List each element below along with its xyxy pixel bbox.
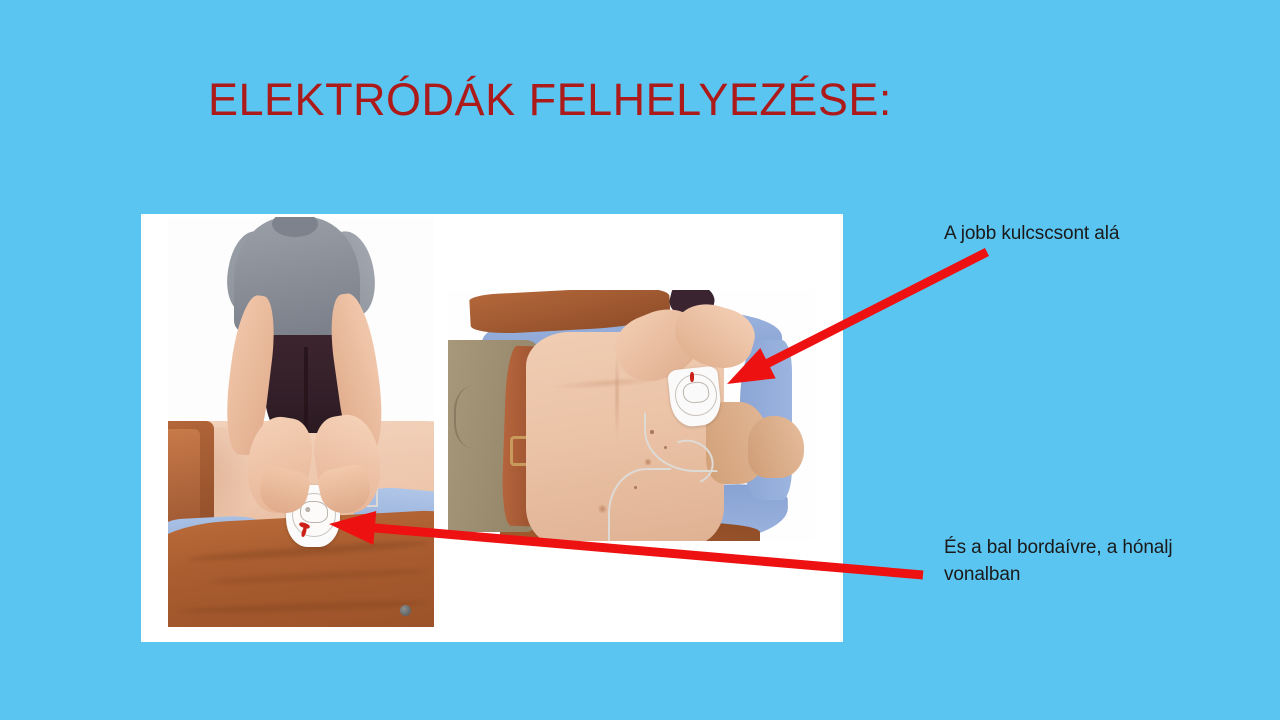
navel (598, 504, 607, 514)
trouser-pocket (454, 386, 500, 448)
slide: ELEKTRÓDÁK FELHELYEZÉSE: (0, 0, 1280, 720)
bare-foot (748, 416, 804, 478)
photo-left-electrode-placement (168, 217, 434, 627)
page-title: ELEKTRÓDÁK FELHELYEZÉSE: (208, 72, 1108, 128)
photo-panel (141, 214, 843, 642)
nipple (644, 458, 652, 466)
photo-right-electrode-placement (448, 290, 815, 541)
callout-label-bottom: És a bal bordaívre, a hónalj vonalban (944, 534, 1226, 588)
trouser-seam (304, 347, 308, 431)
callout-label-top: A jobb kulcscsont alá (944, 220, 1244, 247)
aed-pad-red-marker (690, 372, 694, 382)
leather-stud (400, 605, 411, 616)
sternum-shading (614, 350, 620, 440)
